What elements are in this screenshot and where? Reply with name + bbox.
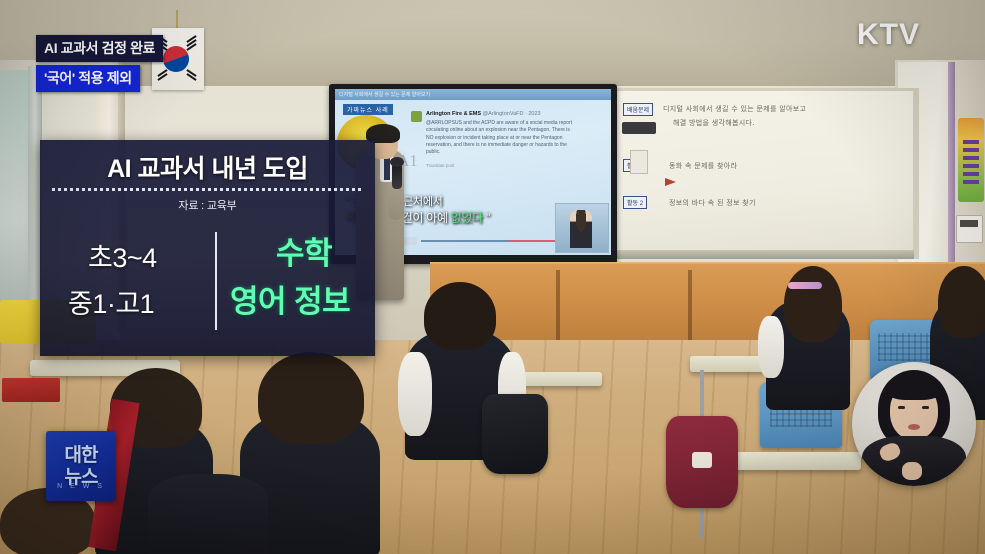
tweet-avatar [411, 111, 422, 122]
lower-third-panel: AI 교과서 내년 도입 자료 : 교육부 초3~4 중1·고1 수학 영어 정… [40, 140, 375, 356]
screen-badge: 가짜뉴스 사례 [343, 104, 393, 115]
tweet-body: @ARRLOPSUS and the ACPD are aware of a s… [426, 120, 572, 156]
backpack-tag [692, 452, 712, 468]
whiteboard-line-1: 디지털 사회에서 생길 수 있는 문제를 알아보고 [663, 104, 806, 114]
student-hairband [788, 282, 822, 289]
student-hair [258, 352, 364, 444]
whiteboard-tag-activity-2: 활동 2 [623, 196, 647, 209]
tweet-account-label: Arlington Fire & EMS [426, 111, 481, 117]
sign-language-interpreter [852, 362, 976, 486]
whiteboard-line-4: 정보의 바다 속 된 정보 찾기 [669, 198, 756, 208]
wall-light-switch [630, 150, 648, 174]
whiteboard-arrow-icon [665, 178, 676, 186]
interpreter-eye [898, 406, 905, 409]
headline-primary: AI 교과서 검정 완료 [36, 35, 163, 62]
whiteboard-line-3: 동화 속 문제를 찾아라 [669, 161, 737, 171]
station-logo: 대한 뉴스 N E W S [46, 431, 116, 501]
screen-title-bar: 디지털 사회에서 생길 수 있는 문제 알아보기 [335, 89, 611, 100]
station-logo-line-3: N E W S [46, 483, 116, 490]
interpreter-mouth [908, 424, 920, 430]
wall-speaker [622, 122, 656, 134]
lower-third-divider [52, 188, 363, 191]
lower-third-source: 자료 : 교육부 [40, 197, 375, 213]
screen-progress-bar [421, 240, 563, 242]
screen-title-text: 디지털 사회에서 생길 수 있는 문제 알아보기 [339, 91, 430, 98]
tweet-handle: @ArlingtonVaFD · 2023 [483, 111, 541, 117]
whiteboard-line-2: 해결 방법을 생각해봅시다. [673, 118, 755, 128]
headline-secondary: '국어' 적용 제외 [36, 65, 140, 92]
lower-third-subject-2: 영어 정보 [230, 276, 350, 321]
whiteboard-tray [596, 250, 914, 259]
lower-third-column-divider [215, 232, 217, 330]
screen-player-controls [395, 237, 565, 245]
student-hair [784, 266, 842, 342]
left-door-glass [0, 70, 30, 320]
red-box [2, 378, 60, 402]
whiteboard-tag-goal: 배움문제 [623, 103, 653, 116]
tweet-translate-link: Translate post [426, 163, 454, 168]
lower-third-subject-1: 수학 [276, 228, 332, 273]
interpreter-eye [922, 406, 929, 409]
student-seated [148, 474, 268, 554]
broadcast-frame: 배움문제 디지털 사회에서 생길 수 있는 문제를 알아보고 해결 방법을 생각… [0, 0, 985, 554]
interpreter-fringe [886, 376, 942, 400]
flag-string [176, 10, 178, 30]
lower-third-title: AI 교과서 내년 도입 [40, 149, 375, 185]
student-hair [938, 266, 985, 338]
lower-third-grade-2: 중1·고1 [68, 282, 154, 321]
student-hair [424, 282, 496, 350]
station-watermark: KTV [857, 18, 920, 52]
student-sleeve [758, 316, 784, 378]
student-sleeve [398, 352, 432, 436]
microphone-head [390, 157, 404, 167]
lower-third-grade-1: 초3~4 [88, 236, 157, 275]
headline-group: AI 교과서 검정 완료 '국어' 적용 제외 [36, 35, 163, 92]
screen-sign-language-inset [555, 203, 609, 253]
screen-subtitle-highlight-2: 없었다 [451, 211, 483, 225]
wall-control-panel [956, 215, 983, 243]
interpreter-hand-right [902, 462, 922, 480]
backpack [482, 394, 548, 474]
tweet-account-name: Arlington Fire & EMS @ArlingtonVaFD · 20… [426, 111, 541, 117]
wall-decoration-pattern [963, 140, 979, 188]
screen-subtitle-end: " [483, 211, 490, 225]
